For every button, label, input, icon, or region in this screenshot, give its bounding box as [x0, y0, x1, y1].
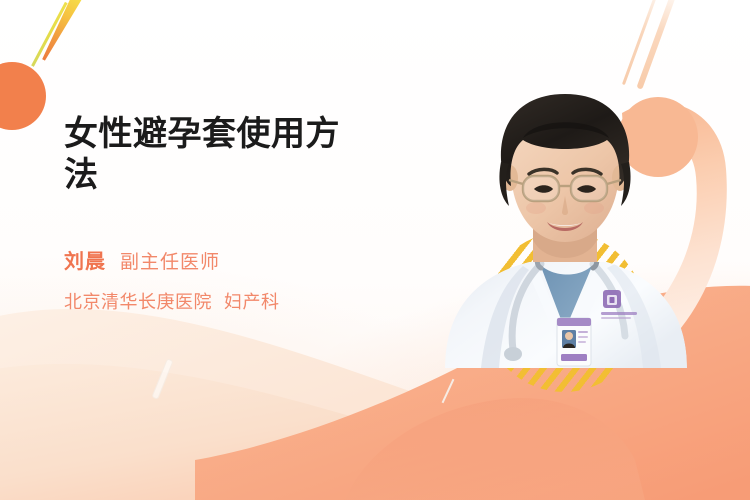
doctor-intro-card: 女性避孕套使用方 法 刘晨 副主任医师 北京清华长庚医院 妇产科 — [0, 0, 750, 500]
doctor-department: 妇产科 — [224, 288, 280, 314]
page-title: 女性避孕套使用方 法 — [64, 114, 412, 196]
title-block: 女性避孕套使用方 法 — [64, 114, 412, 196]
doctor-affiliation-row: 北京清华长庚医院 妇产科 — [64, 288, 464, 314]
doctor-title: 副主任医师 — [120, 247, 220, 274]
doctor-meta-block: 刘晨 副主任医师 北京清华长庚医院 妇产科 — [64, 245, 464, 314]
doctor-name-row: 刘晨 副主任医师 — [64, 245, 464, 274]
doctor-hospital: 北京清华长庚医院 — [64, 288, 212, 314]
doctor-portrait-image — [437, 78, 693, 368]
doctor-name: 刘晨 — [64, 245, 106, 274]
